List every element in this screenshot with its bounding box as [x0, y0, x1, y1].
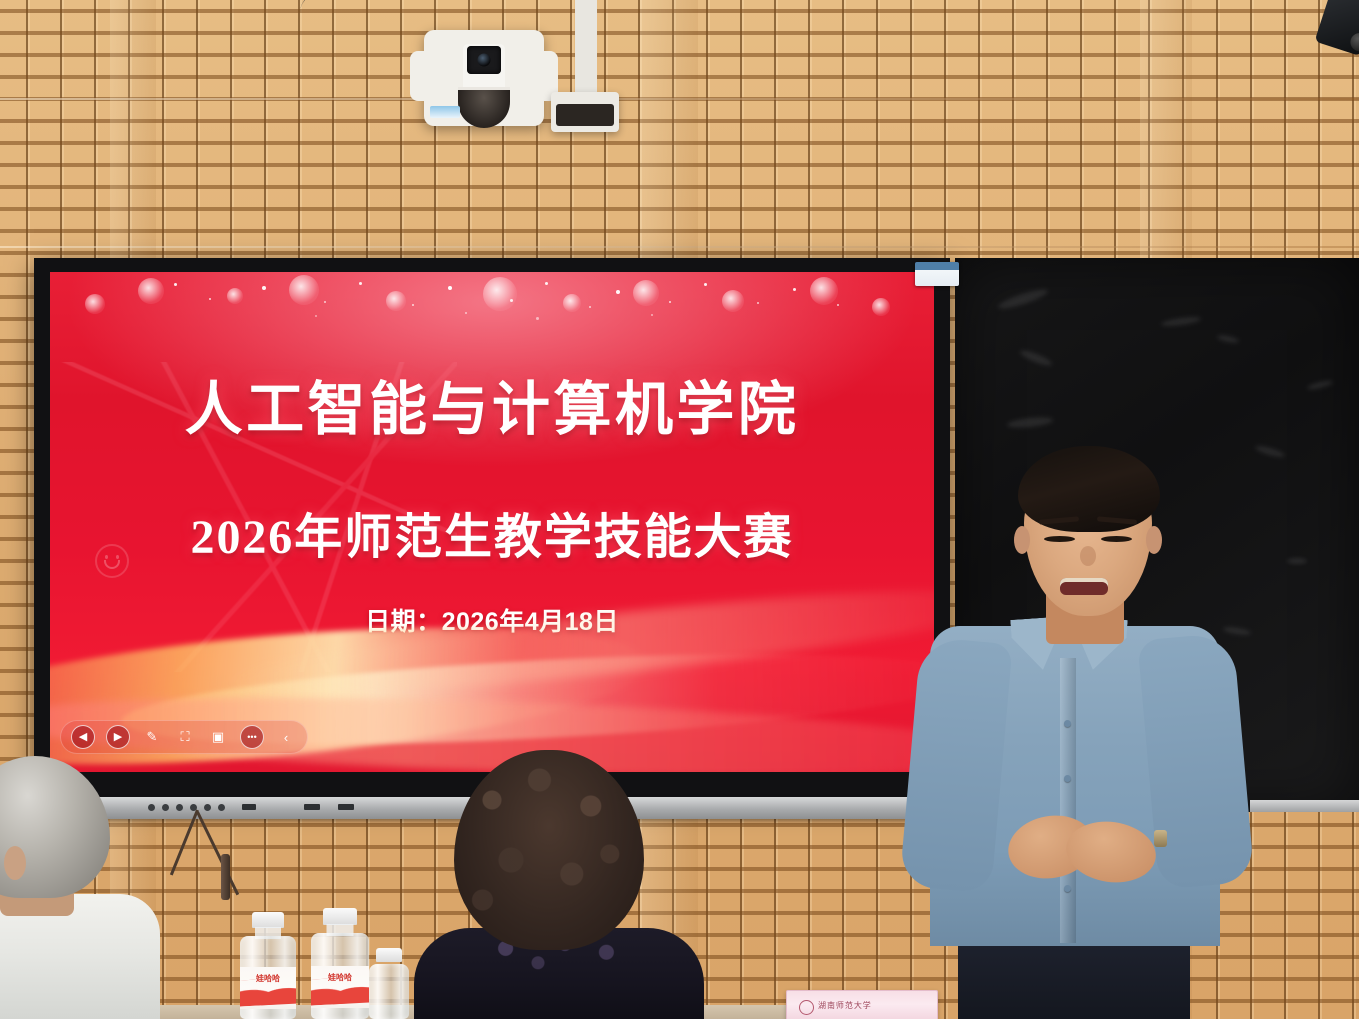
ir-sensor-box — [551, 92, 619, 132]
more-button[interactable]: ••• — [240, 725, 264, 749]
wall-seam — [0, 246, 1359, 248]
slide-subtitle: 2026年师范生教学技能大赛 — [50, 497, 934, 567]
shirt-button — [1064, 885, 1071, 892]
speaker-eye-right — [1101, 536, 1132, 542]
speaker — [900, 430, 1330, 1019]
ptz-camera-mount — [424, 30, 544, 126]
speaker-shirt-placket — [1060, 658, 1076, 943]
bottle-brand-label: 娃哈哈 — [240, 973, 296, 984]
bottle-brand-label: 娃哈哈 — [311, 972, 369, 983]
seated-woman-hair — [454, 750, 644, 950]
previous-button[interactable]: ◀ — [71, 725, 95, 749]
select-button[interactable]: ⛶ — [174, 726, 196, 748]
slide-title: 人工智能与计算机学院 — [50, 362, 934, 446]
sensor-window — [556, 104, 613, 126]
record-button[interactable]: ▣ — [207, 726, 229, 748]
speaker-nose — [1080, 546, 1096, 566]
slide-date: 日期：2026年4月18日 — [50, 602, 934, 638]
university-logo-icon — [799, 1000, 814, 1015]
speaker-mouth — [1060, 578, 1108, 595]
speaker-ear-left — [1014, 526, 1030, 554]
water-bottle-3[interactable] — [369, 948, 409, 1019]
board-stylus[interactable] — [221, 854, 230, 900]
water-bottle-2[interactable]: 娃哈哈 — [311, 908, 369, 1019]
speaker-eye-left — [1044, 536, 1075, 542]
equipment-label-sticker — [915, 262, 959, 286]
collapse-button[interactable]: ‹ — [275, 726, 297, 748]
speaker-ear-right — [1146, 526, 1162, 554]
wall-seam — [0, 98, 1359, 100]
pen-button[interactable]: ✎ — [141, 726, 163, 748]
seated-man-ear — [4, 846, 26, 880]
smartboard-screen[interactable]: 人工智能与计算机学院 2026年师范生教学技能大赛 日期：2026年4月18日 … — [50, 272, 934, 772]
water-bottle-1[interactable]: 娃哈哈 — [240, 912, 296, 1019]
seated-man-left — [0, 752, 220, 1019]
play-button[interactable]: ▶ — [106, 725, 130, 749]
sensor-mount-arm — [575, 0, 597, 95]
speaker-wristwatch — [1154, 830, 1167, 847]
camera-dome — [458, 87, 510, 128]
camera-sticker — [430, 106, 460, 118]
shirt-button — [1064, 775, 1071, 782]
seated-woman-center — [418, 742, 718, 1019]
photo-scene: 人工智能与计算机学院 2026年师范生教学技能大赛 日期：2026年4月18日 … — [0, 0, 1359, 1019]
shirt-button — [1064, 720, 1071, 727]
camera-lens-icon — [467, 46, 501, 74]
slide-toolbar[interactable]: ◀ ▶ ✎ ⛶ ▣ ••• ‹ — [60, 720, 308, 754]
